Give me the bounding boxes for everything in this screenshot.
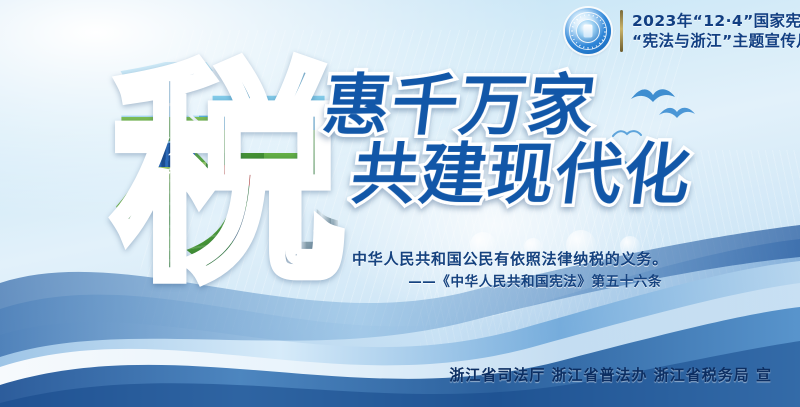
header-divider	[620, 10, 623, 52]
emblem-core	[576, 19, 600, 43]
subtitle-statement: 中华人民共和国公民有依照法律纳税的义务。	[352, 250, 668, 270]
headline-line-2: 共建现代化	[348, 141, 696, 208]
footer-organizations: 浙江省司法厅 浙江省普法办 浙江省税务局 宣	[449, 364, 772, 385]
tax-character-outline: 税	[108, 62, 348, 290]
constitution-emblem-icon	[565, 8, 611, 54]
tax-character-graphic: 税	[108, 62, 348, 290]
subtitle-block: 中华人民共和国公民有依照法律纳税的义务。 ——《中华人民共和国宪法》第五十六条	[352, 250, 668, 291]
subtitle-source: ——《中华人民共和国宪法》第五十六条	[352, 273, 668, 291]
headline-line-1: 惠千万家	[320, 72, 696, 139]
poster-headline: 惠千万家 共建现代化	[318, 72, 692, 209]
header-line-2: “宪法与浙江”主题宣传月	[632, 32, 800, 50]
header-line-1: 2023年“12·4”国家宪法日	[632, 12, 800, 30]
poster-canvas: 2023年“12·4”国家宪法日 “宪法与浙江”主题宣传月	[0, 0, 800, 407]
header-banner: 2023年“12·4”国家宪法日 “宪法与浙江”主题宣传月	[565, 8, 800, 54]
header-text-block: 2023年“12·4”国家宪法日 “宪法与浙江”主题宣传月	[632, 12, 800, 51]
